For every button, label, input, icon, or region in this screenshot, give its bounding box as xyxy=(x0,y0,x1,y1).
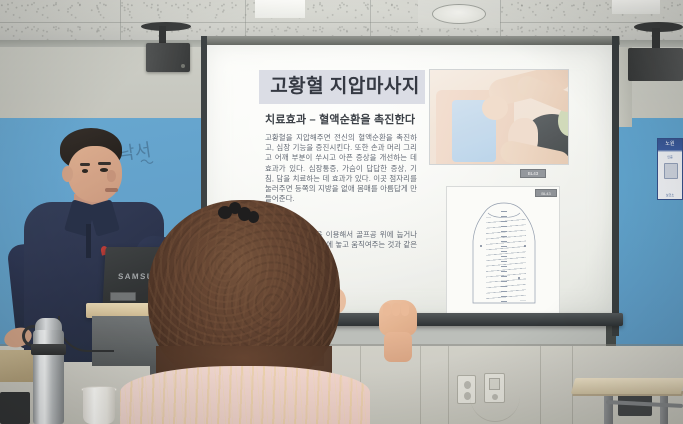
speaker-mount-plate-left xyxy=(141,22,191,31)
hand-knuckle xyxy=(383,303,391,316)
diagram-back-figure xyxy=(464,199,544,307)
cardboard-box xyxy=(0,350,36,382)
slide-massage-photo xyxy=(429,69,569,165)
presenter-eyebrow xyxy=(98,162,111,165)
table-leg xyxy=(660,394,668,424)
speaker-bracket-right xyxy=(652,28,660,50)
presenter-eye xyxy=(82,169,88,173)
wall-panel-seam xyxy=(540,346,541,424)
projection-screen-roller xyxy=(205,36,620,45)
table-top xyxy=(571,378,683,394)
presenter-shirt-placket xyxy=(86,224,91,258)
classroom-scene: 낙서 ～ 노원 인증 보건소 고황혈 지압마사지 xyxy=(0,0,683,424)
slide-photo-caption: BL43 xyxy=(520,169,546,178)
presenter-ear xyxy=(62,166,73,182)
thermos-grip-band xyxy=(31,344,66,355)
slide-title: 고황혈 지압마사지 xyxy=(265,73,425,101)
poster-seal-icon xyxy=(664,163,678,179)
ceiling-speaker-right xyxy=(628,48,683,81)
slide-subtitle: 치료효과 – 혈액순환을 촉진한다 xyxy=(265,111,415,127)
diagram-acupoint xyxy=(518,277,520,279)
ceiling-light-panel xyxy=(255,0,305,18)
photo-therapist-hand xyxy=(482,96,508,120)
foreground-person xyxy=(120,196,370,424)
presenter-mouth xyxy=(105,188,118,192)
slide-anatomy-diagram: BL43 xyxy=(446,186,560,315)
hand-knuckle xyxy=(401,303,409,316)
wall-panel-seam xyxy=(448,346,449,424)
presenter-eyebrow xyxy=(80,163,90,166)
presenter-nose xyxy=(107,170,116,182)
poster-title: 노원 xyxy=(658,140,682,147)
wall-panel-seam xyxy=(420,346,421,424)
ceiling-tile-seam xyxy=(120,0,121,44)
ceiling-tile-seam xyxy=(0,22,683,23)
diagram-label-badge: BL43 xyxy=(535,189,557,197)
speaker-led-left xyxy=(181,64,185,68)
screen-frame-right xyxy=(612,36,619,336)
wall-poster: 노원 인증 보건소 xyxy=(657,138,683,200)
table-leg xyxy=(604,394,613,424)
hair-clip-icon xyxy=(218,202,262,226)
hand-knuckle xyxy=(392,303,400,316)
audience-raised-hand xyxy=(375,300,419,360)
slide-photo-caption-text: BL43 xyxy=(521,170,545,177)
ceiling-light-strip-right xyxy=(612,0,660,14)
diagram-spine-column xyxy=(501,211,507,303)
diagram-acupoint xyxy=(524,245,526,247)
paper-cup[interactable] xyxy=(83,388,115,424)
dark-object-bottom-left xyxy=(0,392,30,424)
poster-footer: 보건소 xyxy=(658,193,682,197)
poster-subtitle: 인증 xyxy=(658,155,682,159)
diagram-acupoint xyxy=(480,245,482,247)
woman-blouse-pattern xyxy=(120,366,370,424)
ceiling-light-round xyxy=(432,4,486,24)
diagram-label-text: BL43 xyxy=(536,190,556,197)
speaker-bracket-left xyxy=(159,26,166,44)
hand-wrist xyxy=(384,332,412,362)
outlet-port-icon xyxy=(489,378,500,390)
slide-body-text: 고황혈을 지압해주면 전신의 혈액순환을 촉진하고, 심장 기능을 증진시킨다.… xyxy=(265,133,417,204)
